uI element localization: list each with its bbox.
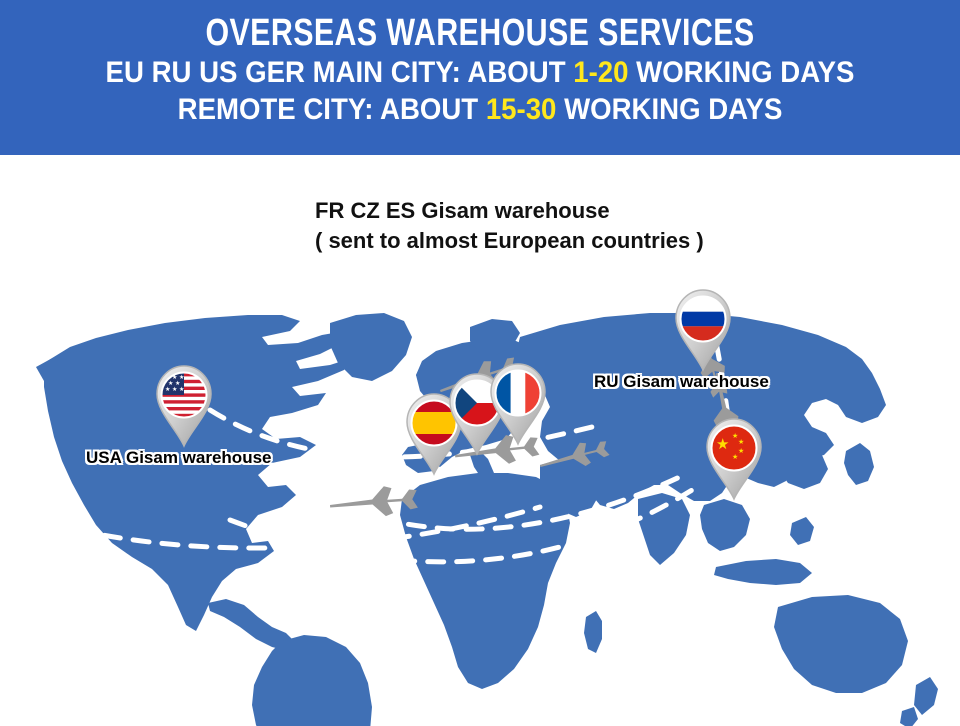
caption-eu-warehouse: FR CZ ES Gisam warehouse ( sent to almos… [315, 196, 704, 256]
header-line-main-city: EU RU US GER MAIN CITY: ABOUT 1-20 WORKI… [38, 54, 921, 91]
header-line3-suffix: WORKING DAYS [556, 93, 782, 126]
map-pin-china[interactable]: ★ ★ ★ ★ ★ [703, 417, 765, 501]
svg-text:★: ★ [732, 453, 738, 461]
header-line3-highlight: 15-30 [486, 93, 557, 126]
page-title: OVERSEAS WAREHOUSE SERVICES [96, 12, 864, 54]
header-line2-suffix: WORKING DAYS [628, 56, 854, 89]
header-line2-highlight: 1-20 [573, 56, 628, 89]
svg-text:★: ★ [168, 380, 173, 387]
svg-text:★: ★ [175, 380, 180, 387]
label-usa-warehouse: USA Gisam warehouse [86, 448, 272, 468]
header-line-remote-city: REMOTE CITY: ABOUT 15-30 WORKING DAYS [38, 91, 921, 128]
svg-text:★: ★ [738, 447, 744, 455]
svg-text:★: ★ [179, 374, 184, 381]
map-pin-russia[interactable] [672, 288, 734, 372]
map-pin-usa[interactable]: ★★★ ★★ ★★★ [153, 364, 215, 448]
svg-text:★: ★ [738, 438, 744, 446]
caption-eu-line1: FR CZ ES Gisam warehouse [315, 196, 704, 226]
label-ru-warehouse: RU Gisam warehouse [594, 372, 769, 392]
svg-text:★: ★ [716, 436, 729, 453]
svg-text:★: ★ [179, 386, 184, 393]
svg-text:★: ★ [165, 386, 170, 393]
svg-text:★: ★ [172, 386, 177, 393]
caption-eu-line2: ( sent to almost European countries ) [315, 226, 704, 256]
header-banner: OVERSEAS WAREHOUSE SERVICES EU RU US GER… [0, 0, 960, 155]
map-pin-france[interactable] [487, 362, 549, 446]
promo-banner-page: OVERSEAS WAREHOUSE SERVICES EU RU US GER… [0, 0, 960, 726]
header-line3-prefix: REMOTE CITY: ABOUT [178, 93, 486, 126]
header-line2-prefix: EU RU US GER MAIN CITY: ABOUT [106, 56, 574, 89]
